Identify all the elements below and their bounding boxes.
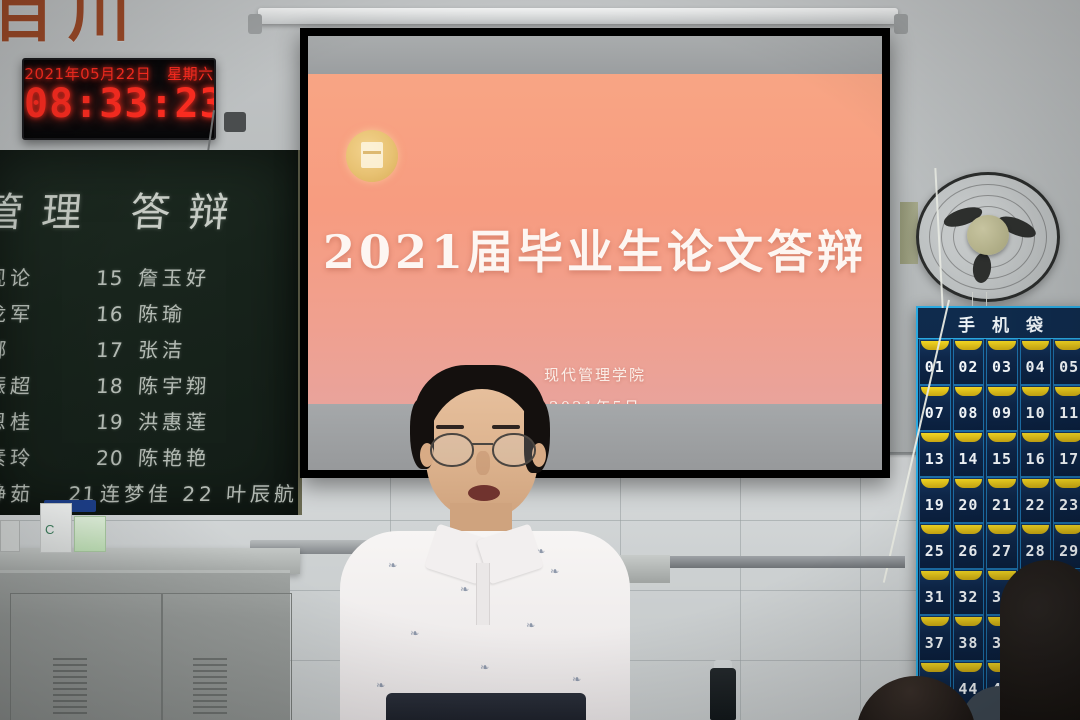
pocket-flap — [955, 617, 983, 626]
pocket-number: 28 — [1021, 542, 1051, 560]
phone-pocket-37[interactable]: 37 — [919, 615, 951, 661]
pocket-flap — [1022, 525, 1050, 534]
pocket-number: 08 — [954, 404, 984, 422]
blackboard: 管理 答辩 现论 15 詹玉好 龙军 16 陈瑜 娜 17 张洁 振超 18 陈… — [0, 150, 302, 515]
glasses-lens-icon — [492, 433, 536, 467]
phone-pocket-14[interactable]: 14 — [953, 431, 985, 477]
shirt-placket — [476, 563, 490, 625]
pocket-flap — [955, 387, 983, 396]
row-right-name: 张洁 — [137, 334, 187, 363]
presenter-nose — [476, 451, 490, 475]
tile-line — [860, 455, 861, 720]
pocket-number: 38 — [954, 634, 984, 652]
pocket-flap — [921, 571, 949, 580]
pocket-flap — [921, 663, 949, 672]
pocket-flap — [955, 571, 983, 580]
pocket-number: 10 — [1021, 404, 1051, 422]
letterbox-top — [308, 36, 882, 74]
pocket-flap — [921, 525, 949, 534]
pocket-number: 13 — [920, 450, 950, 468]
water-bottle — [710, 668, 736, 720]
row-number: 20 — [95, 446, 139, 470]
pocket-number: 15 — [987, 450, 1017, 468]
pocket-flap — [1055, 341, 1080, 350]
row-left-name: 振超 — [0, 370, 97, 399]
slide-title: 2021届毕业生论文答辩 — [308, 216, 882, 282]
pocket-number: 04 — [1021, 358, 1051, 376]
clock-plug — [224, 112, 246, 132]
college-emblem-icon — [346, 130, 398, 182]
title-char-1: 手 — [958, 311, 978, 336]
phone-pocket-row: 1920212223 — [918, 477, 1080, 523]
pocket-flap — [988, 479, 1016, 488]
phone-pocket-16[interactable]: 16 — [1020, 431, 1052, 477]
pocket-flap — [921, 341, 949, 350]
pocket-number: 26 — [954, 542, 984, 560]
phone-pocket-27[interactable]: 27 — [986, 523, 1018, 569]
row-number: 19 — [95, 410, 139, 434]
phone-pocket-19[interactable]: 19 — [919, 477, 951, 523]
pocket-number: 16 — [1021, 450, 1051, 468]
pocket-flap — [955, 433, 983, 442]
phone-pocket-row: 0708091011 — [918, 385, 1080, 431]
blackboard-heading: 管理 答辩 — [0, 180, 249, 238]
phone-pocket-31[interactable]: 31 — [919, 569, 951, 615]
led-wall-clock: 2021年05月22日 星期六 08:33:23 — [22, 58, 216, 140]
pocket-number: 02 — [954, 358, 984, 376]
phone-pocket-21[interactable]: 21 — [986, 477, 1018, 523]
phone-pocket-08[interactable]: 08 — [953, 385, 985, 431]
projector-screen-roller — [258, 8, 898, 24]
row-left-name: 现论 — [0, 262, 97, 291]
pocket-flap — [955, 341, 983, 350]
pocket-flap — [988, 387, 1016, 396]
pocket-number: 05 — [1054, 358, 1080, 376]
row-number: 16 — [95, 302, 139, 326]
pocket-flap — [955, 663, 983, 672]
glasses-bridge — [471, 443, 493, 445]
pocket-number: 31 — [920, 588, 950, 606]
blackboard-row: 振超 18 陈宇翔 — [0, 370, 299, 406]
phone-pocket-10[interactable]: 10 — [1020, 385, 1052, 431]
row-right-name: 陈宇翔 — [137, 370, 211, 399]
phone-pocket-row: 0102030405 — [918, 339, 1080, 385]
row-right-name: 陈瑜 — [137, 298, 187, 327]
pocket-number: 37 — [920, 634, 950, 652]
podium-cabinet — [0, 570, 290, 720]
pocket-number: 25 — [920, 542, 950, 560]
presenter-eyebrow — [436, 425, 464, 429]
phone-pocket-26[interactable]: 26 — [953, 523, 985, 569]
pocket-flap — [988, 341, 1016, 350]
pocket-flap — [1055, 387, 1080, 396]
roller-cap-right — [894, 14, 908, 34]
blackboard-name-list: 现论 15 詹玉好 龙军 16 陈瑜 娜 17 张洁 振超 18 陈宇翔 恩桂 — [0, 262, 298, 514]
presenter: ❧ ❧ ❧ ❧ ❧ ❧ ❧ ❧ ❧ ❧ — [326, 355, 646, 720]
pocket-number: 17 — [1054, 450, 1080, 468]
pocket-flap — [1022, 387, 1050, 396]
pocket-flap — [988, 433, 1016, 442]
pocket-flap — [1022, 479, 1050, 488]
phone-pocket-03[interactable]: 03 — [986, 339, 1018, 385]
blackboard-row: 恩桂 19 洪惠莲 — [0, 406, 299, 442]
pocket-flap — [921, 433, 949, 442]
phone-pocket-23[interactable]: 23 — [1053, 477, 1080, 523]
pocket-flap — [921, 479, 949, 488]
row-number: 17 — [95, 338, 139, 362]
phone-pocket-38[interactable]: 38 — [953, 615, 985, 661]
row-number: 18 — [95, 374, 139, 398]
pocket-number: 22 — [1021, 496, 1051, 514]
presenter-trousers — [386, 693, 586, 720]
pocket-number: 27 — [987, 542, 1017, 560]
cabinet-vent — [53, 658, 87, 718]
title-char-2: 机 — [992, 311, 1012, 336]
pocket-number: 20 — [954, 496, 984, 514]
row-right-name: 詹玉好 — [137, 262, 211, 291]
pocket-flap — [1055, 525, 1080, 534]
blackboard-row: 娜 17 张洁 — [0, 334, 299, 370]
pocket-number: 09 — [987, 404, 1017, 422]
pocket-flap — [955, 479, 983, 488]
blackboard-row: 素玲 20 陈艳艳 — [0, 442, 299, 478]
row-left-name: 龙军 — [0, 298, 97, 327]
pocket-flap — [955, 525, 983, 534]
pocket-flap — [1022, 341, 1050, 350]
pocket-number: 32 — [954, 588, 984, 606]
classroom-photo-scene: 百川 2021年05月22日 星期六 08:33:23 管理 答辩 现论 15 … — [0, 0, 1080, 720]
blackboard-row: 现论 15 詹玉好 — [0, 262, 299, 298]
pocket-flap — [1022, 433, 1050, 442]
pocket-number: 14 — [954, 450, 984, 468]
glasses-lens-icon — [430, 433, 474, 467]
green-box — [74, 516, 106, 552]
led-clock-time: 08:33:23 — [24, 83, 214, 125]
pocket-number: 29 — [1054, 542, 1080, 560]
pocket-flap — [1055, 433, 1080, 442]
fan-hub — [967, 215, 1009, 255]
phone-pocket-25[interactable]: 25 — [919, 523, 951, 569]
row-right-name: 连梦佳 22 叶辰航 — [99, 478, 299, 507]
pocket-number: 11 — [1054, 404, 1080, 422]
tile-line — [740, 455, 741, 720]
pocket-flap — [1055, 479, 1080, 488]
phone-pocket-09[interactable]: 09 — [986, 385, 1018, 431]
presenter-mouth — [468, 485, 500, 501]
pocket-flap — [988, 525, 1016, 534]
phone-pocket-17[interactable]: 17 — [1053, 431, 1080, 477]
row-left-name: 恩桂 — [0, 406, 97, 435]
title-char-3: 袋 — [1026, 311, 1046, 336]
row-right-name: 陈艳艳 — [137, 442, 211, 471]
emblem-inner-glyph — [361, 142, 383, 168]
pocket-number: 19 — [920, 496, 950, 514]
pocket-flap — [921, 617, 949, 626]
row-left-name: 娜 — [0, 334, 97, 363]
phone-pocket-22[interactable]: 22 — [1020, 477, 1052, 523]
row-left-name: 素玲 — [0, 442, 97, 471]
row-right-name: 洪惠莲 — [137, 406, 211, 435]
pocket-number: 03 — [987, 358, 1017, 376]
phone-pocket-11[interactable]: 11 — [1053, 385, 1080, 431]
phone-pocket-20[interactable]: 20 — [953, 477, 985, 523]
phone-pocket-02[interactable]: 02 — [953, 339, 985, 385]
cabinet-vent — [193, 658, 227, 718]
cabinet-door[interactable] — [10, 593, 162, 720]
phone-pocket-15[interactable]: 15 — [986, 431, 1018, 477]
pocket-number: 23 — [1054, 496, 1080, 514]
phone-pocket-05[interactable]: 05 — [1053, 339, 1080, 385]
pocket-number: 21 — [987, 496, 1017, 514]
roller-cap-left — [248, 14, 262, 34]
blackboard-row: 龙军 16 陈瑜 — [0, 298, 299, 334]
white-box: C — [40, 503, 72, 553]
phone-pocket-row: 1314151617 — [918, 431, 1080, 477]
phone-pocket-32[interactable]: 32 — [953, 569, 985, 615]
phone-pocket-04[interactable]: 04 — [1020, 339, 1052, 385]
presenter-eyebrow — [492, 425, 520, 429]
phone-pocket-13[interactable]: 13 — [919, 431, 951, 477]
student-head — [1000, 560, 1080, 720]
cabinet-door[interactable] — [162, 593, 292, 720]
grey-box — [0, 520, 20, 552]
row-number: 15 — [95, 266, 139, 290]
